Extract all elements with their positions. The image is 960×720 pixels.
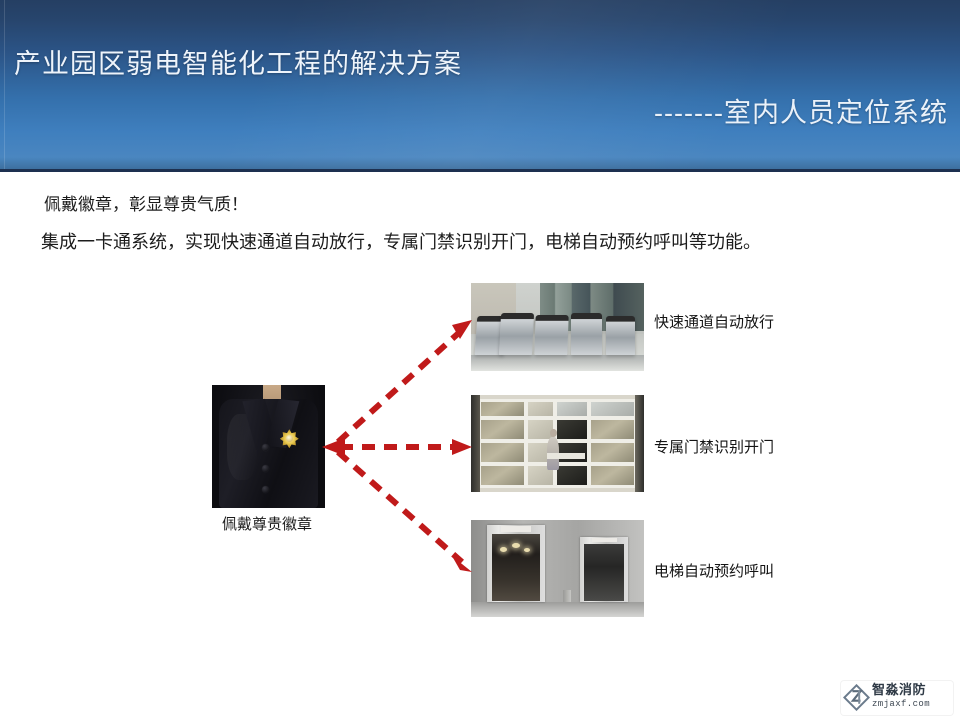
gold-badge-icon [280,429,299,448]
turnstile-4 [571,313,602,355]
arrow-to-elevator [338,452,472,572]
elevator-door-closed [580,537,628,603]
door-pane [481,443,524,462]
slide-canvas: 产业园区弱电智能化工程的解决方案 -------室内人员定位系统 佩戴徽章，彰显… [0,0,960,720]
arrow-to-speed-gates [338,320,472,442]
elevator-door-open [487,525,546,603]
elevator-indicator-2 [592,538,617,543]
suit-photo-caption: 佩戴尊贵徽章 [222,513,312,534]
door-pane [591,466,634,485]
door-pane [591,443,634,462]
door-pane [528,420,553,439]
caption-glass-door: 专属门禁识别开门 [654,436,774,457]
logo-brand-name: 智淼消防 [872,682,952,698]
door-jamb-right [635,395,644,492]
elevator-door-panel [584,544,624,601]
glass-door-photo [471,395,644,492]
ceiling-lamp-icon [500,547,507,552]
watermark-logo: 智淼消防 zmjaxf.com [841,681,953,715]
arrow-to-glass-door [340,439,472,455]
door-pane [481,420,524,439]
suit-button-1 [262,444,269,451]
caption-elevator: 电梯自动预约呼叫 [654,560,774,581]
door-pane [591,420,634,439]
turnstile-3 [534,315,568,355]
door-handrail [547,453,585,459]
slide-header-band: 产业园区弱电智能化工程的解决方案 -------室内人员定位系统 [0,0,960,172]
gates-floor-reflection [471,355,644,371]
suit-button-2 [262,465,269,472]
elevator-lobby-photo [471,520,644,617]
suit-badge-photo [212,385,325,508]
arrow-hub-head [322,438,345,456]
elevator-indicator-1 [501,526,532,531]
turnstile-2 [499,313,534,355]
door-jamb-left [471,395,480,492]
speed-gates-photo [471,283,644,371]
door-pane [557,466,587,485]
door-pane [591,402,634,416]
suit-button-3 [262,486,269,493]
door-pane [557,402,587,416]
body-text-line-1: 佩戴徽章，彰显尊贵气质！ [44,190,248,215]
lobby-floor [471,602,644,617]
page-subtitle: -------室内人员定位系统 [654,99,948,129]
diamond-z-logo-icon [843,684,870,711]
logo-text-block: 智淼消防 zmjaxf.com [872,682,952,710]
page-title: 产业园区弱电智能化工程的解决方案 [14,50,462,80]
lobby-trash-bin [563,590,572,603]
body-text-line-2: 集成一卡通系统，实现快速通道自动放行，专属门禁识别开门，电梯自动预约呼叫等功能。 [41,228,761,254]
turnstile-5 [606,316,635,356]
caption-speed-gates: 快速通道自动放行 [654,311,774,332]
logo-website-url: zmjaxf.com [872,698,952,710]
door-pane [481,466,524,485]
door-pane [481,402,524,416]
door-pane [557,420,587,439]
door-pane [528,402,553,416]
